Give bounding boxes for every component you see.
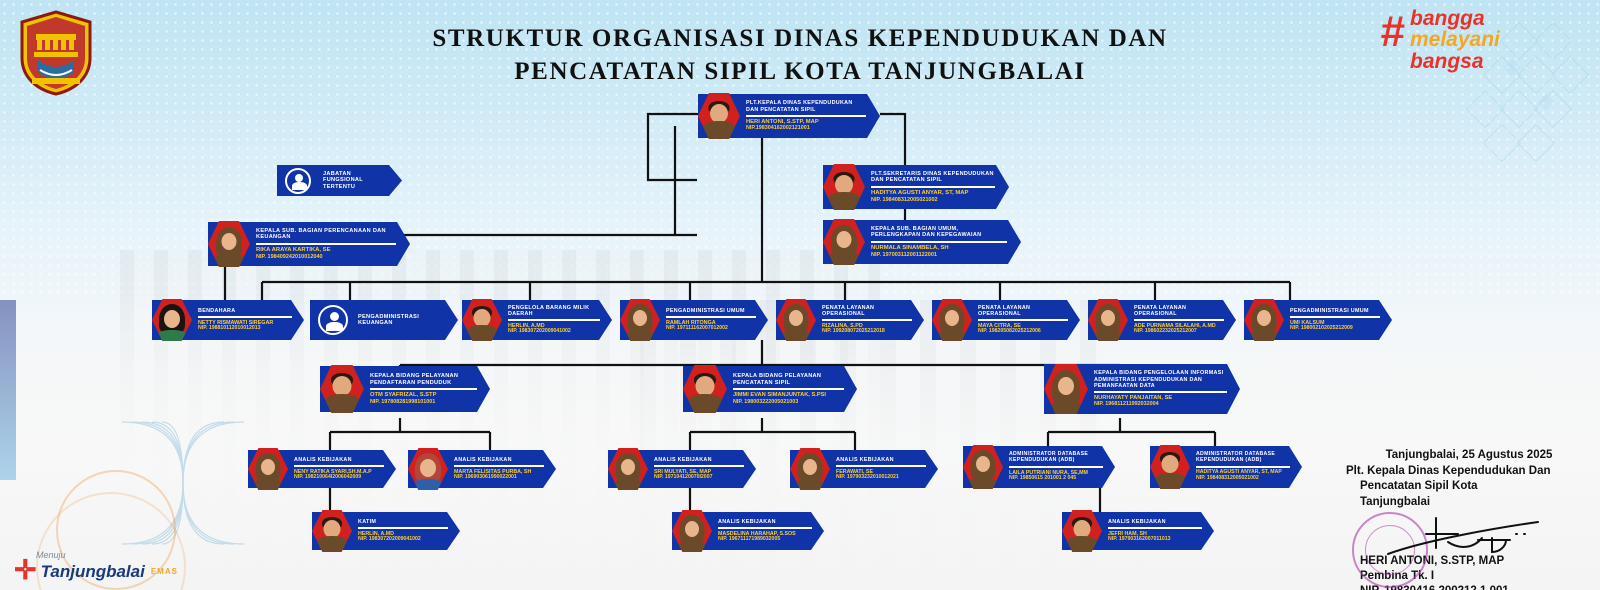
node-katim[interactable]: KATIM HERLIN, A.MD NIP. 1983072020090410… — [312, 512, 460, 550]
node-role: PENATA LAYANAN OPERASIONAL — [1134, 305, 1224, 317]
signature-block: Tanjungbalai, 25 Agustus 2025 Plt. Kepal… — [1346, 448, 1592, 590]
node-divider — [871, 186, 995, 188]
face — [333, 376, 352, 396]
node-role: KEPALA SUB. BAGIAN UMUM, PERLENGKAPAN DA… — [871, 226, 1007, 239]
node-divider — [1134, 319, 1224, 321]
node-nip: NIP. 197903162007011013 — [1108, 537, 1202, 543]
node-penata-layanan-operasional-1[interactable]: PENATA LAYANAN OPERASIONAL RIZALINA, S.P… — [776, 300, 924, 340]
node-role: ADMINISTRATOR DATABASE KEPENDUDUKAN (ADB… — [1196, 452, 1290, 464]
node-name: NURMALA SINAMBELA, SH — [871, 245, 1007, 252]
node-divider — [666, 316, 756, 318]
node-administrator-database-2[interactable]: ADMINISTRATOR DATABASE KEPENDUDUKAN (ADB… — [1150, 446, 1302, 488]
node-role: KEPALA SUB. BAGIAN PERENCANAAN DAN KEUAN… — [256, 228, 396, 241]
brand-logo-bangga-melayani-bangsa: # bangga melayani bangsa — [1384, 8, 1574, 72]
node-kabid-pelayanan-pendaftaran-penduduk[interactable]: KEPALA BIDANG PELAYANAN PENDAFTARAN PEND… — [320, 366, 490, 412]
node-divider — [654, 465, 744, 467]
node-nip: NIP. 197808281998101001 — [370, 399, 477, 405]
node-divider — [1108, 527, 1202, 529]
footer-badge: EMAS — [151, 567, 178, 576]
node-pengadministrasi-umum-2[interactable]: PENGADMINISTRASI UMUM UMI KALSUM NIP. 19… — [1244, 300, 1392, 340]
city-crest-logo — [18, 10, 94, 96]
node-analis-kebijakan-6[interactable]: ANALIS KEBIJAKAN JEFRI HAM, SH NIP. 1979… — [1062, 512, 1214, 550]
node-kabid-pengelolaan-informasi-adminduk[interactable]: KEPALA BIDANG PENGELOLAAN INFORMASI ADMI… — [1044, 364, 1240, 414]
hash-icon: # — [1380, 10, 1404, 54]
brand-line2: melayani — [1410, 29, 1574, 50]
face — [1101, 310, 1115, 326]
face — [696, 376, 715, 396]
face — [789, 310, 803, 326]
brand-line1: bangga — [1410, 8, 1574, 29]
node-role: ANALIS KEBIJAKAN — [654, 457, 744, 463]
node-nip: NIP. 199208072025212018 — [822, 329, 912, 335]
node-role: PENATA LAYANAN OPERASIONAL — [822, 305, 912, 317]
node-nip: NIP. 198003222005021003 — [733, 399, 844, 405]
node-nip: NIP. 198408312005021002 — [871, 197, 995, 203]
node-nip: NIP. 198810112010012013 — [198, 326, 292, 332]
node-role: ANALIS KEBIJAKAN — [1108, 519, 1202, 525]
node-nip: NIP. 198210064I2006042009 — [294, 475, 384, 481]
face — [420, 459, 436, 477]
node-role: ADMINISTRATOR DATABASE KEPENDUDUKAN (ADB… — [1009, 452, 1103, 464]
page-title-line1: STRUKTUR ORGANISASI DINAS KEPENDUDUKAN D… — [300, 22, 1300, 55]
node-nip: NIP. 198002102025212009 — [1290, 326, 1380, 332]
face — [621, 459, 635, 475]
node-name: RIKA ARAYA KARTIKA, SE — [256, 247, 396, 254]
node-nip: NIP. 198409242010012040 — [256, 254, 396, 260]
node-nip: NIP. 198205082025212006 — [978, 329, 1068, 335]
node-divider — [746, 115, 866, 117]
node-role: PLT.KEPALA DINAS KEPENDUDUKAN DAN PENCAT… — [746, 100, 866, 112]
node-divider — [1009, 466, 1103, 468]
node-role: ANALIS KEBIJAKAN — [718, 519, 812, 525]
signature-title-line3: Tanjungbalai — [1360, 495, 1592, 510]
face — [945, 310, 959, 326]
node-jabatan-fungsional-tertentu[interactable]: JABATAN FUNGSIONAL TERTENTU — [277, 165, 402, 196]
background-left-bar — [0, 300, 16, 480]
node-divider — [294, 465, 384, 467]
person-body — [292, 182, 307, 190]
node-nip: NIP. 198408312005021002 — [1196, 476, 1290, 482]
node-divider — [454, 465, 544, 467]
node-role: KEPALA BIDANG PENGELOLAAN INFORMASI ADMI… — [1094, 370, 1227, 389]
signature-graphic-area — [1346, 510, 1592, 554]
node-name: HERI ANTONI, S.STP, MAP — [746, 119, 866, 126]
background-rings-decoration — [118, 418, 248, 548]
node-analis-kebijakan-3[interactable]: ANALIS KEBIJAKAN SRI MULYATI, SE, MAP NI… — [608, 450, 756, 488]
node-nip: NIP. 197104120070I2007 — [654, 475, 744, 481]
node-role: ANALIS KEBIJAKAN — [836, 457, 926, 463]
plus-icon: ✛ — [14, 560, 37, 582]
node-role: PENGELOLA BARANG MILIK DAERAH — [508, 305, 600, 317]
node-pengadministrasi-keuangan[interactable]: PENGADMINISTRASI KEUANGAN — [310, 300, 458, 340]
uniform — [413, 479, 443, 490]
face — [1162, 455, 1179, 473]
face — [1058, 377, 1074, 395]
node-analis-kebijakan-1[interactable]: ANALIS KEBIJAKAN NENY RATIKA SYARI,SH.M.… — [248, 450, 396, 488]
uniform — [613, 479, 643, 490]
person-icon — [318, 305, 348, 335]
node-divider — [358, 527, 448, 529]
node-role: KEPALA BIDANG PELAYANAN PENCATATAN SIPIL — [733, 373, 844, 386]
node-role: ANALIS KEBIJAKAN — [454, 457, 544, 463]
footer-city-name: Tanjungbalai — [41, 563, 145, 580]
node-nip: NIP. 197003112001122001 — [871, 252, 1007, 258]
node-divider — [733, 388, 844, 390]
node-divider — [256, 243, 396, 245]
node-nip: NIP. 197903232010012021 — [836, 475, 926, 481]
face — [685, 521, 699, 537]
page-title: STRUKTUR ORGANISASI DINAS KEPENDUDUKAN D… — [300, 22, 1300, 88]
signature-place-date: Tanjungbalai, 25 Agustus 2025 — [1346, 448, 1592, 463]
uniform — [253, 479, 283, 490]
node-divider — [871, 241, 1007, 243]
node-nip: NIP.198304162002121001 — [746, 125, 866, 131]
node-nip: NIP. 198307202009041002 — [358, 537, 448, 543]
face — [222, 233, 237, 250]
node-role: PENGADMINISTRASI KEUANGAN — [358, 314, 446, 327]
node-role: PENATA LAYANAN OPERASIONAL — [978, 305, 1068, 317]
node-role: JABATAN FUNGSIONAL TERTENTU — [323, 171, 390, 190]
signature-title-line1: Plt. Kepala Dinas Kependudukan Dan — [1346, 464, 1592, 479]
face — [837, 231, 852, 248]
node-pengelola-barang-milik-daerah[interactable]: PENGELOLA BARANG MILIK DAERAH HERLIN, A.… — [462, 300, 612, 340]
node-divider — [1196, 466, 1290, 468]
node-analis-kebijakan-2[interactable]: ANALIS KEBIJAKAN MARTA FELISITAS PURBA, … — [408, 450, 556, 488]
node-divider — [978, 319, 1068, 321]
node-plt-sekretaris[interactable]: PLT.SEKRETARIS DINAS KEPENDUDUKAN DAN PE… — [823, 165, 1009, 209]
face — [803, 459, 817, 475]
node-analis-kebijakan-4[interactable]: ANALIS KEBIJAKAN FERAWATI, SE NIP. 19790… — [790, 450, 938, 488]
node-role: KEPALA BIDANG PELAYANAN PENDAFTARAN PEND… — [370, 373, 477, 386]
handwritten-signature — [1386, 514, 1576, 558]
node-nip: NIP. 198602232025212007 — [1134, 329, 1224, 335]
node-kasubbag-umum-perlengkapan-kepegawaian[interactable]: KEPALA SUB. BAGIAN UMUM, PERLENGKAPAN DA… — [823, 220, 1021, 264]
person-body — [326, 322, 343, 331]
node-divider — [1290, 316, 1380, 318]
node-role: ANALIS KEBIJAKAN — [294, 457, 384, 463]
node-administrator-database-1[interactable]: ADMINISTRATOR DATABASE KEPENDUDUKAN (ADB… — [963, 446, 1115, 488]
node-divider — [370, 388, 477, 390]
node-role: BENDAHARA — [198, 308, 292, 314]
node-nip: NIP. 198307202009041002 — [508, 329, 600, 335]
node-kasubbag-perencanaan-keuangan[interactable]: KEPALA SUB. BAGIAN PERENCANAAN DAN KEUAN… — [208, 222, 410, 266]
face — [261, 459, 275, 475]
footer-tagline: Menuju — [36, 550, 144, 560]
node-nip: NIP. 196811211992032004 — [1094, 401, 1227, 407]
node-divider — [822, 319, 912, 321]
brand-line3: bangsa — [1410, 51, 1574, 72]
page-title-line2: PENCATATAN SIPIL KOTA TANJUNGBALAI — [300, 55, 1300, 88]
signature-title-line2: Pencatatan Sipil Kota — [1360, 479, 1592, 494]
node-plt-kepala-dinas[interactable]: PLT.KEPALA DINAS KEPENDUDUKAN DAN PENCAT… — [698, 94, 880, 138]
node-role: KATIM — [358, 519, 448, 525]
node-divider — [836, 465, 926, 467]
person-head — [330, 312, 339, 321]
node-kabid-pelayanan-pencatatan-sipil[interactable]: KEPALA BIDANG PELAYANAN PENCATATAN SIPIL… — [683, 366, 857, 412]
node-role: PLT.SEKRETARIS DINAS KEPENDUDUKAN DAN PE… — [871, 171, 995, 184]
face — [633, 310, 647, 326]
node-analis-kebijakan-5[interactable]: ANALIS KEBIJAKAN MASDELINA HARAHAP, S.SO… — [672, 512, 824, 550]
node-nip: NIP. 196903061990022001 — [454, 475, 544, 481]
node-penata-layanan-operasional-3[interactable]: PENATA LAYANAN OPERASIONAL ADE PURNAMA S… — [1088, 300, 1236, 340]
node-divider — [508, 319, 600, 321]
node-bendahara[interactable]: BENDAHARA NETTY RISMAWATI SIREGAR NIP. 1… — [152, 300, 304, 340]
face — [976, 456, 990, 472]
uniform — [795, 479, 825, 490]
node-penata-layanan-operasional-2[interactable]: PENATA LAYANAN OPERASIONAL MAYA CITRA, S… — [932, 300, 1080, 340]
footer-city-logo: Menuju ✛ Tanjungbalai EMAS — [14, 550, 144, 582]
node-role: PENGADMINISTRASI UMUM — [1290, 308, 1380, 314]
node-name: OTM SYAFRIZAL, S.STP — [370, 392, 477, 399]
node-pengadministrasi-umum-1[interactable]: PENGADMINISTRASI UMUM RAMLAH RITONGA NIP… — [620, 300, 768, 340]
node-nip: NIP. 197111162007012002 — [666, 326, 756, 332]
uniform — [677, 541, 707, 552]
node-role: PENGADMINISTRASI UMUM — [666, 308, 756, 314]
node-nip: NIP. 19850615 201001 2 045 — [1009, 476, 1103, 482]
face — [164, 310, 180, 328]
node-nip: NIP. 196711171989032005 — [718, 537, 812, 543]
node-divider — [718, 527, 812, 529]
node-name: HADITYA AGUSTI ANYAR, ST, MAP — [871, 190, 995, 197]
node-divider — [198, 316, 292, 318]
face — [1257, 310, 1271, 326]
node-divider — [1094, 391, 1227, 393]
person-head — [295, 174, 303, 182]
person-icon — [285, 168, 311, 194]
